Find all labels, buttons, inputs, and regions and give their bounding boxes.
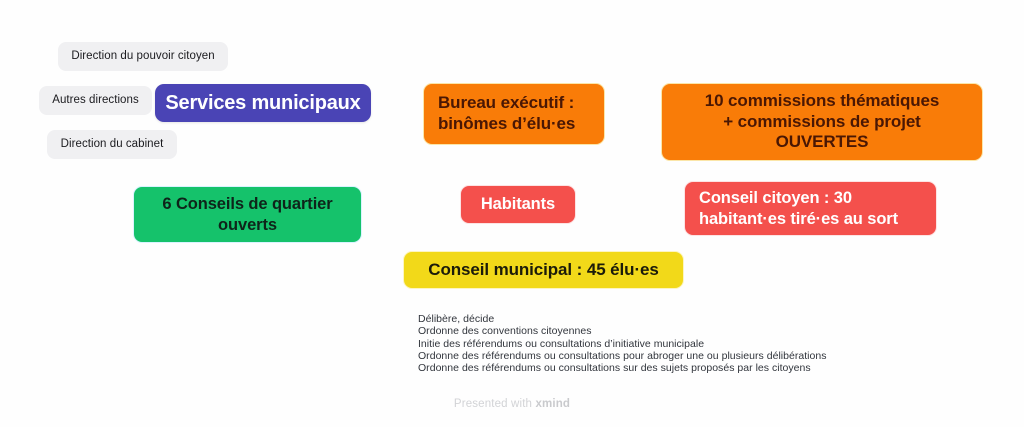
note-line: Ordonne des conventions citoyennes — [418, 325, 888, 337]
footer-prefix: Presented with — [454, 398, 536, 410]
note-line: Initie des référendums ou consultations … — [418, 338, 888, 350]
node-label: 6 Conseils de quartier ouverts — [162, 194, 332, 234]
node-commissions-thematiques[interactable]: 10 commissions thématiques + commissions… — [661, 83, 983, 161]
node-direction-cabinet[interactable]: Direction du cabinet — [47, 130, 177, 159]
node-label: Direction du pouvoir citoyen — [71, 49, 214, 63]
footer-brand: xmind — [535, 398, 570, 410]
node-direction-pouvoir-citoyen[interactable]: Direction du pouvoir citoyen — [58, 42, 228, 71]
diagram-canvas: Direction du pouvoir citoyen Autres dire… — [0, 0, 1024, 427]
footer-watermark: Presented with xmind — [0, 398, 1024, 410]
notes-list: Délibère, décide Ordonne des conventions… — [418, 313, 888, 374]
node-conseils-de-quartier[interactable]: 6 Conseils de quartier ouverts — [133, 186, 362, 243]
node-label: Conseil citoyen : 30 habitant·es tiré·es… — [699, 188, 898, 228]
node-label: Direction du cabinet — [61, 137, 164, 151]
node-services-municipaux[interactable]: Services municipaux — [155, 84, 371, 122]
note-line: Ordonne des référendums ou consultations… — [418, 350, 888, 362]
node-label: Services municipaux — [165, 91, 360, 115]
node-label: Bureau exécutif : binômes d’élu·es — [438, 93, 575, 134]
node-label: Conseil municipal : 45 élu·es — [428, 260, 658, 281]
node-conseil-municipal[interactable]: Conseil municipal : 45 élu·es — [403, 251, 684, 289]
node-autres-directions[interactable]: Autres directions — [39, 86, 152, 115]
note-line: Délibère, décide — [418, 313, 888, 325]
node-habitants[interactable]: Habitants — [460, 185, 576, 224]
node-label: Autres directions — [52, 93, 139, 107]
node-label: Habitants — [481, 194, 555, 214]
node-conseil-citoyen[interactable]: Conseil citoyen : 30 habitant·es tiré·es… — [684, 181, 937, 236]
node-label: 10 commissions thématiques + commissions… — [705, 91, 940, 153]
node-bureau-executif[interactable]: Bureau exécutif : binômes d’élu·es — [423, 83, 605, 145]
note-line: Ordonne des référendums ou consultations… — [418, 362, 888, 374]
